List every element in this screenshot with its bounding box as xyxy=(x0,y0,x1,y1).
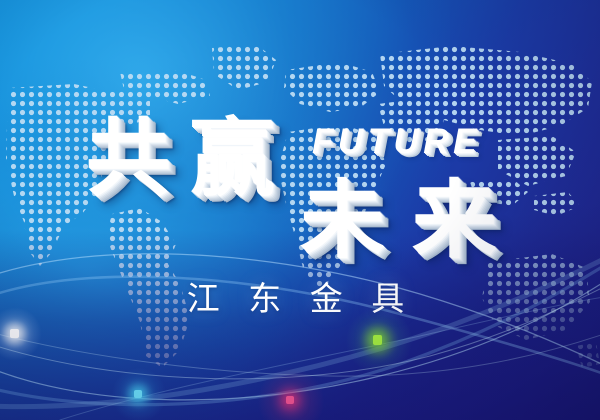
headline-char-wei: 未 xyxy=(300,178,384,262)
company-name-subtitle: 江 东 金 具 xyxy=(0,272,600,320)
headline-line-2: 未 来 xyxy=(0,178,600,270)
promotional-banner: 共 赢 FUTURE 未 来 江 东 金 具 xyxy=(0,0,600,420)
headline-char-lai: 来 xyxy=(412,178,496,262)
banner-text-layer: 共 赢 FUTURE 未 来 江 东 金 具 xyxy=(0,0,600,420)
accent-word-future: FUTURE xyxy=(312,124,481,159)
